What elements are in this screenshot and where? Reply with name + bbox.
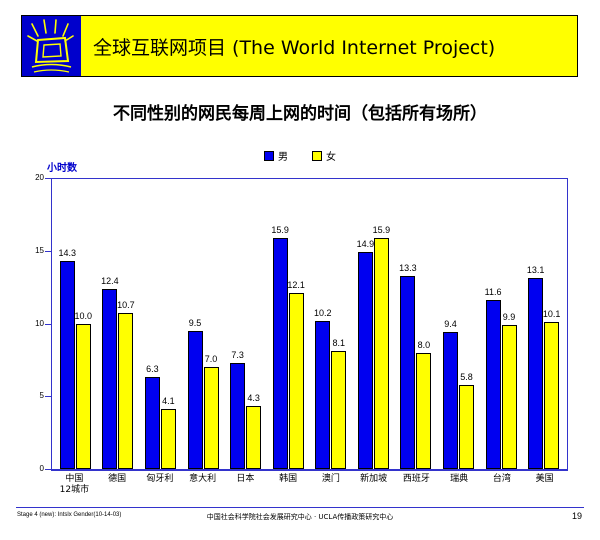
bar-value-label: 9.4 [444,319,457,329]
x-axis-label: 瑞典 [438,474,481,504]
chart-legend: 男 女 [0,148,600,163]
footer-divider [16,507,584,508]
bar-group: 13.38.0 [395,179,438,469]
bar-male: 12.4 [102,289,117,469]
bar-group: 15.912.1 [267,179,310,469]
legend-item-female: 女 [312,148,336,163]
bar-value-label: 10.2 [314,308,332,318]
bar-value-label: 4.1 [162,396,175,406]
bar-group: 10.28.1 [309,179,352,469]
bar-male: 7.3 [230,363,245,469]
bar-value-label: 13.1 [527,265,545,275]
bar-female: 12.1 [289,293,304,469]
x-axis-label: 澳门 [310,474,353,504]
bar-male: 13.3 [400,276,415,470]
bar-value-label: 10.7 [117,300,135,310]
bar-female: 7.0 [204,367,219,469]
bar-female: 4.3 [246,406,261,469]
bar-value-label: 9.9 [503,312,516,322]
slide-title-container: 全球互联网项目 (The World Internet Project) [81,16,577,76]
x-axis-label-line1: 瑞典 [450,474,468,484]
bar-female: 9.9 [502,325,517,469]
y-axis-tick-label: 0 [22,464,44,473]
x-axis-label: 台湾 [481,474,524,504]
bar-male: 9.5 [188,331,203,469]
bar-value-label: 10.0 [75,311,93,321]
bar-female: 8.0 [416,353,431,469]
x-axis-label: 新加坡 [352,474,395,504]
x-axis-label-line1: 意大利 [189,474,216,484]
x-axis-label-line1: 中国 [65,474,83,484]
bar-group: 7.34.3 [224,179,267,469]
legend-label-female: 女 [326,148,336,163]
globe-monitor-icon [22,16,81,76]
x-axis-label: 匈牙利 [139,474,182,504]
bar-group: 14.310.0 [54,179,97,469]
x-axis-label-line1: 澳门 [322,474,340,484]
x-axis-label: 日本 [224,474,267,504]
bar-group: 11.69.9 [480,179,523,469]
bar-value-label: 12.1 [287,280,305,290]
legend-swatch-male [264,151,274,161]
bar-value-label: 15.9 [271,225,289,235]
bar-chart-plot-area: 14.310.012.410.76.34.19.57.07.34.315.912… [51,178,568,471]
x-axis-label-line1: 德国 [108,474,126,484]
x-axis-label-line1: 新加坡 [360,474,387,484]
bar-value-label: 9.5 [189,318,202,328]
bar-female: 10.0 [76,324,91,470]
bar-value-label: 12.4 [101,276,119,286]
bar-female: 4.1 [161,409,176,469]
slide-title: 全球互联网项目 (The World Internet Project) [93,33,495,60]
bar-male: 14.3 [60,261,75,469]
y-axis-title: 小时数 [47,159,77,174]
legend-swatch-female [312,151,322,161]
x-axis-label: 意大利 [181,474,224,504]
bar-value-label: 4.3 [247,393,260,403]
bar-group: 6.34.1 [139,179,182,469]
bar-male: 9.4 [443,332,458,469]
bar-female: 15.9 [374,238,389,469]
bar-male: 15.9 [273,238,288,469]
x-axis-label-line1: 日本 [236,474,254,484]
slide-title-bar: 全球互联网项目 (The World Internet Project) [21,15,578,77]
bar-group: 9.57.0 [182,179,225,469]
x-axis-labels: 中国12城市德国匈牙利意大利日本韩国澳门新加坡西班牙瑞典台湾美国 [51,474,568,504]
footer-page-number: 19 [572,511,582,521]
bar-female: 10.7 [118,313,133,469]
bar-value-label: 7.0 [205,354,218,364]
bar-female: 8.1 [331,351,346,469]
bar-male: 10.2 [315,321,330,469]
legend-item-male: 男 [264,148,288,163]
x-axis-label: 西班牙 [395,474,438,504]
bar-group: 9.45.8 [437,179,480,469]
bar-value-label: 5.8 [460,372,473,382]
x-axis-label: 美国 [523,474,566,504]
bar-group: 14.915.9 [352,179,395,469]
bar-value-label: 14.9 [357,239,375,249]
bar-group: 13.110.1 [522,179,565,469]
bar-female: 5.8 [459,385,474,469]
x-axis-label-line1: 台湾 [493,474,511,484]
bar-groups-container: 14.310.012.410.76.34.19.57.07.34.315.912… [52,179,567,469]
footer-organization: 中国社会科学院社会发展研究中心 · UCLA传播政策研究中心 [0,512,600,522]
bar-value-label: 6.3 [146,364,159,374]
y-axis-tick-label: 5 [22,391,44,400]
x-axis-label-line1: 美国 [536,474,554,484]
chart-subtitle: 不同性别的网民每周上网的时间（包括所有场所） [0,99,600,124]
bar-value-label: 15.9 [373,225,391,235]
legend-label-male: 男 [278,148,288,163]
x-axis-label-line1: 韩国 [279,474,297,484]
x-axis-label-line1: 匈牙利 [146,474,173,484]
bar-value-label: 7.3 [231,350,244,360]
bar-value-label: 10.1 [543,309,561,319]
x-axis-label-line2: 12城市 [53,485,96,496]
y-axis-tick-label: 15 [22,246,44,255]
x-axis-label: 韩国 [267,474,310,504]
y-axis-tick-label: 20 [22,173,44,182]
bar-value-label: 11.6 [485,287,502,297]
bar-male: 13.1 [528,278,543,469]
x-axis-label: 中国12城市 [53,474,96,504]
bar-female: 10.1 [544,322,559,469]
bar-value-label: 13.3 [399,263,417,273]
bar-value-label: 8.0 [418,340,431,350]
bar-male: 6.3 [145,377,160,469]
bar-value-label: 14.3 [59,248,77,258]
bar-group: 12.410.7 [97,179,140,469]
bar-male: 14.9 [358,252,373,469]
bar-male: 11.6 [486,300,501,469]
y-axis-tick-label: 10 [22,319,44,328]
x-axis-label-line1: 西班牙 [403,474,430,484]
x-axis-label: 德国 [96,474,139,504]
bar-value-label: 8.1 [332,338,345,348]
